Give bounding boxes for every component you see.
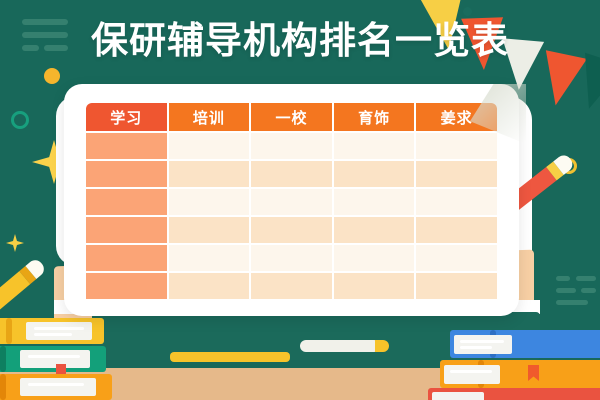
- table-row: [86, 161, 497, 187]
- book-pages: [26, 322, 92, 340]
- book-page-line: [450, 370, 492, 373]
- table-cell[interactable]: [416, 245, 497, 271]
- bookmark-yellow: [170, 352, 290, 362]
- table-cell[interactable]: [334, 161, 415, 187]
- table-cell[interactable]: [251, 245, 332, 271]
- table-row-header-cell[interactable]: [86, 189, 167, 215]
- book-page-line: [28, 383, 84, 386]
- pencil-icon: [0, 257, 47, 315]
- book-pages: [432, 392, 484, 400]
- table-cell[interactable]: [251, 161, 332, 187]
- table-cell[interactable]: [416, 217, 497, 243]
- deco-line: [581, 288, 596, 293]
- table-row: [86, 245, 497, 271]
- table-body: [86, 133, 497, 299]
- book-spine: [0, 374, 6, 400]
- deco-line: [556, 288, 576, 293]
- table-row: [86, 217, 497, 243]
- table-cell[interactable]: [251, 133, 332, 159]
- book-spine: [6, 318, 12, 344]
- column-header-study[interactable]: 学习: [86, 103, 167, 131]
- table-cell[interactable]: [169, 217, 250, 243]
- white-pencil-ferrule: [375, 340, 389, 352]
- table-cell[interactable]: [416, 189, 497, 215]
- table-cell[interactable]: [251, 217, 332, 243]
- deco-line: [576, 276, 596, 281]
- deco-line: [556, 300, 588, 305]
- table-cell[interactable]: [251, 273, 332, 299]
- book-blue: [450, 330, 600, 358]
- table-cell[interactable]: [169, 161, 250, 187]
- filled-dot-icon: [44, 68, 60, 84]
- ranking-table: 学习 培训 一校 育饰 姜求: [84, 101, 499, 301]
- book-page-line: [34, 327, 84, 330]
- book-orange: [440, 360, 600, 388]
- book-page-line: [28, 355, 80, 358]
- four-point-star-icon: [6, 234, 24, 252]
- table-cell[interactable]: [334, 245, 415, 271]
- table-row-header-cell[interactable]: [86, 217, 167, 243]
- table-cell[interactable]: [169, 133, 250, 159]
- table-row-header-cell[interactable]: [86, 133, 167, 159]
- table-row: [86, 189, 497, 215]
- book-page-line: [460, 340, 504, 343]
- book-pages: [20, 350, 90, 368]
- column-header-training[interactable]: 培训: [169, 103, 250, 131]
- table-cell[interactable]: [334, 217, 415, 243]
- table-row: [86, 133, 497, 159]
- poster-canvas: 保研辅导机构排名一览表 学习 培训 一校 育饰 姜求: [0, 0, 600, 400]
- table-cell[interactable]: [416, 273, 497, 299]
- table-cell[interactable]: [416, 133, 497, 159]
- table-header-row: 学习 培训 一校 育饰 姜求: [86, 103, 497, 131]
- column-header-school[interactable]: 一校: [251, 103, 332, 131]
- table-header: 学习 培训 一校 育饰 姜求: [86, 103, 497, 131]
- circle-outline-icon: [11, 111, 29, 129]
- book-yellow: [0, 318, 104, 344]
- book-pages: [20, 378, 96, 396]
- table-row-header-cell[interactable]: [86, 161, 167, 187]
- table-row-header-cell[interactable]: [86, 273, 167, 299]
- book-red: [428, 388, 600, 400]
- table-row: [86, 273, 497, 299]
- book-pages: [454, 335, 512, 354]
- table-cell[interactable]: [334, 189, 415, 215]
- book-pages: [444, 365, 500, 384]
- deco-line: [556, 276, 570, 281]
- table-card: 学习 培训 一校 育饰 姜求: [64, 84, 519, 316]
- table-cell[interactable]: [334, 133, 415, 159]
- table-cell[interactable]: [169, 245, 250, 271]
- table-cell[interactable]: [251, 189, 332, 215]
- book-orange: [0, 374, 112, 400]
- table-row-header-cell[interactable]: [86, 245, 167, 271]
- book-page-line: [460, 346, 492, 349]
- white-pencil-accent: [300, 340, 380, 352]
- book-green: [0, 346, 106, 372]
- table-cell[interactable]: [416, 161, 497, 187]
- table-cell[interactable]: [169, 189, 250, 215]
- book-page-line: [34, 333, 72, 336]
- table-cell[interactable]: [169, 273, 250, 299]
- table-cell[interactable]: [334, 273, 415, 299]
- book-spine: [0, 346, 6, 372]
- page-title: 保研辅导机构排名一览表: [0, 18, 600, 64]
- column-header-nurture[interactable]: 育饰: [334, 103, 415, 131]
